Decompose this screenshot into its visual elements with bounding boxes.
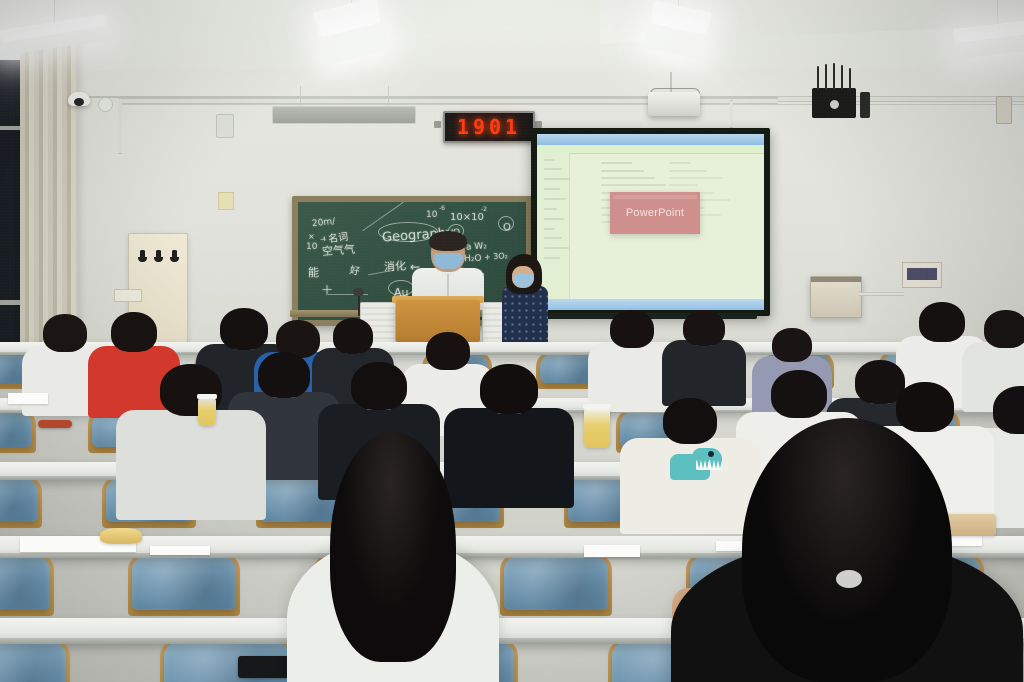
student-head — [683, 310, 725, 346]
student-head — [771, 370, 827, 418]
lecture-hall-photo: 1901 20m/×10-4名词空气气能好十Geography10-610×10… — [0, 0, 1024, 682]
dino-graphic — [668, 446, 724, 484]
student-torso — [116, 410, 266, 520]
seat-r2-0[interactable] — [0, 478, 38, 522]
student-torso — [444, 408, 574, 508]
student-head — [984, 310, 1024, 348]
foreground-student-right — [742, 418, 952, 682]
pencil-case — [38, 420, 72, 428]
hair-tie — [836, 570, 862, 588]
student-head — [772, 328, 812, 362]
student-torso — [662, 340, 746, 406]
tshirt-graphic-text — [852, 398, 938, 408]
student-head — [663, 398, 717, 444]
student-head — [480, 364, 538, 414]
smartphone — [238, 656, 290, 678]
paper-sheet — [584, 545, 640, 557]
student-head — [919, 302, 965, 342]
seat-r3-0[interactable] — [0, 556, 50, 610]
foreground-student-left — [330, 432, 456, 662]
cup-lid — [583, 404, 611, 409]
seat-r3-3[interactable] — [504, 556, 608, 610]
drink-cup — [584, 408, 610, 448]
water-bottle — [198, 398, 216, 426]
student-head — [43, 314, 87, 352]
dino-eye — [708, 451, 714, 457]
student-11 — [116, 364, 266, 526]
student-head — [111, 312, 157, 352]
seat-r3-1[interactable] — [132, 556, 236, 610]
fg-hair — [742, 418, 952, 682]
seat-r4-0[interactable] — [0, 642, 66, 682]
student-head — [610, 310, 654, 348]
fg-hair — [330, 432, 456, 662]
student-14 — [444, 364, 574, 514]
student-head — [993, 386, 1024, 434]
paper-sheet — [150, 546, 210, 555]
dino-tooth — [718, 460, 722, 469]
student-7 — [662, 310, 746, 412]
student-head — [351, 362, 407, 410]
paper-sheet — [8, 393, 48, 404]
cup-lid — [197, 394, 217, 399]
snack-bread — [100, 528, 142, 544]
student-head — [333, 318, 373, 354]
